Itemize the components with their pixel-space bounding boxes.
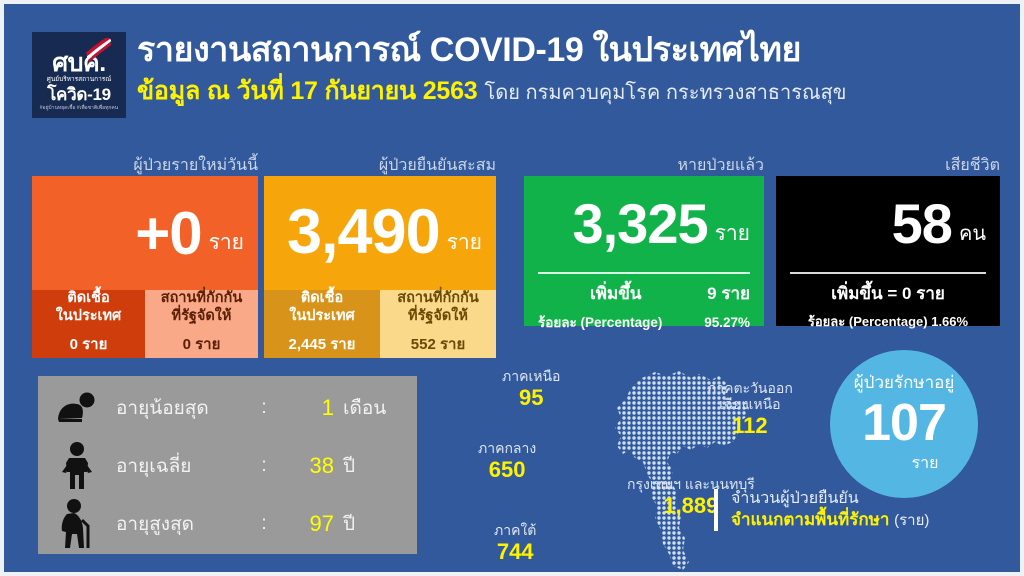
new-today-local-label-2: ในประเทศ xyxy=(56,308,122,324)
recovered-percentage-label: ร้อยละ (Percentage) xyxy=(538,311,662,333)
new-today-quarantine-label-1: สถานที่กักกัน xyxy=(161,290,243,306)
elderly-icon xyxy=(38,498,116,550)
age-colon-min: : xyxy=(240,397,288,419)
recovered-increase-value: 9 ราย xyxy=(707,280,750,307)
infant-icon xyxy=(38,391,116,425)
age-colon-mean: : xyxy=(240,455,288,477)
age-row-max: อายุสูงสุด : 97 ปี xyxy=(38,494,417,553)
card-recovered-top: 3,325 ราย xyxy=(524,176,764,272)
card-cumulative-top: 3,490 ราย xyxy=(264,176,496,290)
card-deaths-top: 58 คน xyxy=(776,176,1000,272)
active-cases-label: ผู้ป่วยรักษาอยู่ xyxy=(854,369,955,396)
age-value-min: 1 xyxy=(288,395,334,421)
region-north-value: 95 xyxy=(502,385,560,410)
recovered-unit: ราย xyxy=(715,217,750,250)
card-new-today-bottom: ติดเชื้อ ในประเทศ 0 ราย สถานที่กักกัน ที… xyxy=(32,290,258,358)
age-label-mean: อายุเฉลี่ย xyxy=(116,451,240,481)
map-legend-line2-strong: จำแนกตามพื้นที่รักษา xyxy=(731,510,889,529)
deaths-unit: คน xyxy=(959,217,986,249)
page-title: รายงานสถานการณ์ COVID-19 ในประเทศไทย xyxy=(137,31,846,70)
map-legend-line2: จำแนกตามพื้นที่รักษา (ราย) xyxy=(731,509,929,531)
new-today-unit: ราย xyxy=(209,226,244,259)
card-recovered: 3,325 ราย เพิ่มขึ้น 9 ราย ร้อยละ (Percen… xyxy=(524,176,764,326)
region-south: ภาคใต้ 744 xyxy=(494,522,536,564)
active-cases-circle: ผู้ป่วยรักษาอยู่ 107 ราย xyxy=(830,350,978,498)
recovered-percentage-row: ร้อยละ (Percentage) 95.27% xyxy=(538,311,750,333)
recovered-details: เพิ่มขึ้น 9 ราย ร้อยละ (Percentage) 95.2… xyxy=(524,274,764,333)
active-cases-value: 107 xyxy=(862,397,946,449)
cumulative-local-value: 2,445 ราย xyxy=(289,332,356,356)
cumulative-local-label-2: ในประเทศ xyxy=(289,308,355,324)
cumulative-local-cell: ติดเชื้อ ในประเทศ 2,445 ราย xyxy=(264,290,380,358)
active-cases-unit: ราย xyxy=(912,451,939,476)
heading-deaths: เสียชีวิต xyxy=(776,153,1000,178)
new-today-quarantine-cell: สถานที่กักกัน ที่รัฐจัดให้ 0 ราย xyxy=(145,290,258,358)
adult-icon xyxy=(38,441,116,491)
new-today-local-cell: ติดเชื้อ ในประเทศ 0 ราย xyxy=(32,290,145,358)
cumulative-local-label-1: ติดเชื้อ xyxy=(301,290,343,306)
region-central: ภาคกลาง 650 xyxy=(478,440,536,482)
age-row-mean: อายุเฉลี่ย : 38 ปี xyxy=(38,436,417,495)
deaths-percentage-text: ร้อยละ (Percentage) 1.66% xyxy=(788,311,988,332)
heading-new-today: ผู้ป่วยรายใหม่วันนี้ xyxy=(32,153,258,178)
recovered-increase-label: เพิ่มขึ้น xyxy=(590,280,641,307)
age-unit-max: ปี xyxy=(343,509,355,539)
age-value-max: 97 xyxy=(288,511,334,537)
logo-covid-line: โควิด-19 xyxy=(47,86,111,103)
new-today-value: +0 xyxy=(135,205,201,262)
card-cumulative-bottom: ติดเชื้อ ในประเทศ 2,445 ราย สถานที่กักกั… xyxy=(264,290,496,358)
deaths-details: เพิ่มขึ้น = 0 ราย ร้อยละ (Percentage) 1.… xyxy=(776,274,1000,332)
cumulative-unit: ราย xyxy=(447,226,482,259)
report-source: โดย กรมควบคุมโรค กระทรวงสาธารณสุข xyxy=(485,82,847,104)
recovered-value: 3,325 xyxy=(572,197,707,250)
region-northeast-name-2: เฉียงเหนือ xyxy=(707,396,793,412)
title-subline: ข้อมูล ณ วันที่ 17 กันยายน 2563โดย กรมคว… xyxy=(137,76,846,106)
region-north-name: ภาคเหนือ xyxy=(502,368,560,384)
age-colon-max: : xyxy=(240,513,288,535)
heading-recovered: หายป่วยแล้ว xyxy=(524,153,764,178)
card-new-today: +0 ราย ติดเชื้อ ในประเทศ 0 ราย สถานที่กั… xyxy=(32,176,258,358)
recovered-increase-row: เพิ่มขึ้น 9 ราย xyxy=(538,280,750,307)
age-statistics-panel: อายุน้อยสุด : 1 เดือน อายุเฉลี่ย : 38 ปี xyxy=(38,376,417,554)
age-unit-min: เดือน xyxy=(343,393,386,423)
region-northeast: ภาคตะวันออก เฉียงเหนือ 112 xyxy=(707,380,793,438)
age-value-mean: 38 xyxy=(288,453,334,479)
card-deaths: 58 คน เพิ่มขึ้น = 0 ราย ร้อยละ (Percenta… xyxy=(776,176,1000,326)
heading-cumulative: ผู้ป่วยยืนยันสะสม xyxy=(264,153,496,178)
deaths-increase-text: เพิ่มขึ้น = 0 ราย xyxy=(788,280,988,307)
region-northeast-name: ภาคตะวันออก xyxy=(707,380,793,396)
age-label-min: อายุน้อยสุด xyxy=(116,393,240,423)
new-today-local-label-1: ติดเชื้อ xyxy=(67,290,109,306)
card-cumulative: 3,490 ราย ติดเชื้อ ในประเทศ 2,445 ราย สถ… xyxy=(264,176,496,358)
age-label-max: อายุสูงสุด xyxy=(116,509,240,539)
card-new-today-top: +0 ราย xyxy=(32,176,258,290)
new-today-quarantine-value: 0 ราย xyxy=(183,332,221,356)
cumulative-quarantine-value: 552 ราย xyxy=(411,332,465,356)
cumulative-quarantine-label-2: ที่รัฐจัดให้ xyxy=(408,308,468,324)
age-row-min: อายุน้อยสุด : 1 เดือน xyxy=(38,378,417,437)
report-date: ข้อมูล ณ วันที่ 17 กันยายน 2563 xyxy=(137,77,478,105)
sbc-logo: ศบค. ศูนย์บริหารสถานการณ์ โควิด-19 #อยู่… xyxy=(32,32,126,118)
region-south-value: 744 xyxy=(494,539,536,564)
cumulative-quarantine-label-1: สถานที่กักกัน xyxy=(397,290,479,306)
poster-header: ศบค. ศูนย์บริหารสถานการณ์ โควิด-19 #อยู่… xyxy=(4,4,1024,140)
map-legend-line2-unit: (ราย) xyxy=(894,512,929,529)
deaths-value: 58 xyxy=(892,197,952,250)
new-today-quarantine-label-2: ที่รัฐจัดให้ xyxy=(172,308,232,324)
age-unit-mean: ปี xyxy=(343,451,355,481)
title-block: รายงานสถานการณ์ COVID-19 ในประเทศไทย ข้อ… xyxy=(137,31,846,106)
cumulative-quarantine-cell: สถานที่กักกัน ที่รัฐจัดให้ 552 ราย xyxy=(380,290,496,358)
region-south-name: ภาคใต้ xyxy=(494,522,536,538)
region-central-value: 650 xyxy=(478,457,536,482)
region-north: ภาคเหนือ 95 xyxy=(502,368,560,410)
recovered-percentage-value: 95.27% xyxy=(704,315,750,330)
new-today-local-value: 0 ราย xyxy=(70,332,108,356)
region-northeast-value: 112 xyxy=(707,413,793,438)
region-central-name: ภาคกลาง xyxy=(478,440,536,456)
thai-flag-ribbon-icon xyxy=(86,38,112,62)
cumulative-value: 3,490 xyxy=(287,203,440,263)
logo-tagline: #อยู่บ้านหยุดเชื้อ #เพื่อชาติเพื่อทุกคน xyxy=(40,106,118,111)
logo-subtitle: ศูนย์บริหารสถานการณ์ xyxy=(47,77,112,84)
covid-report-poster: ศบค. ศูนย์บริหารสถานการณ์ โควิด-19 #อยู่… xyxy=(0,0,1024,576)
